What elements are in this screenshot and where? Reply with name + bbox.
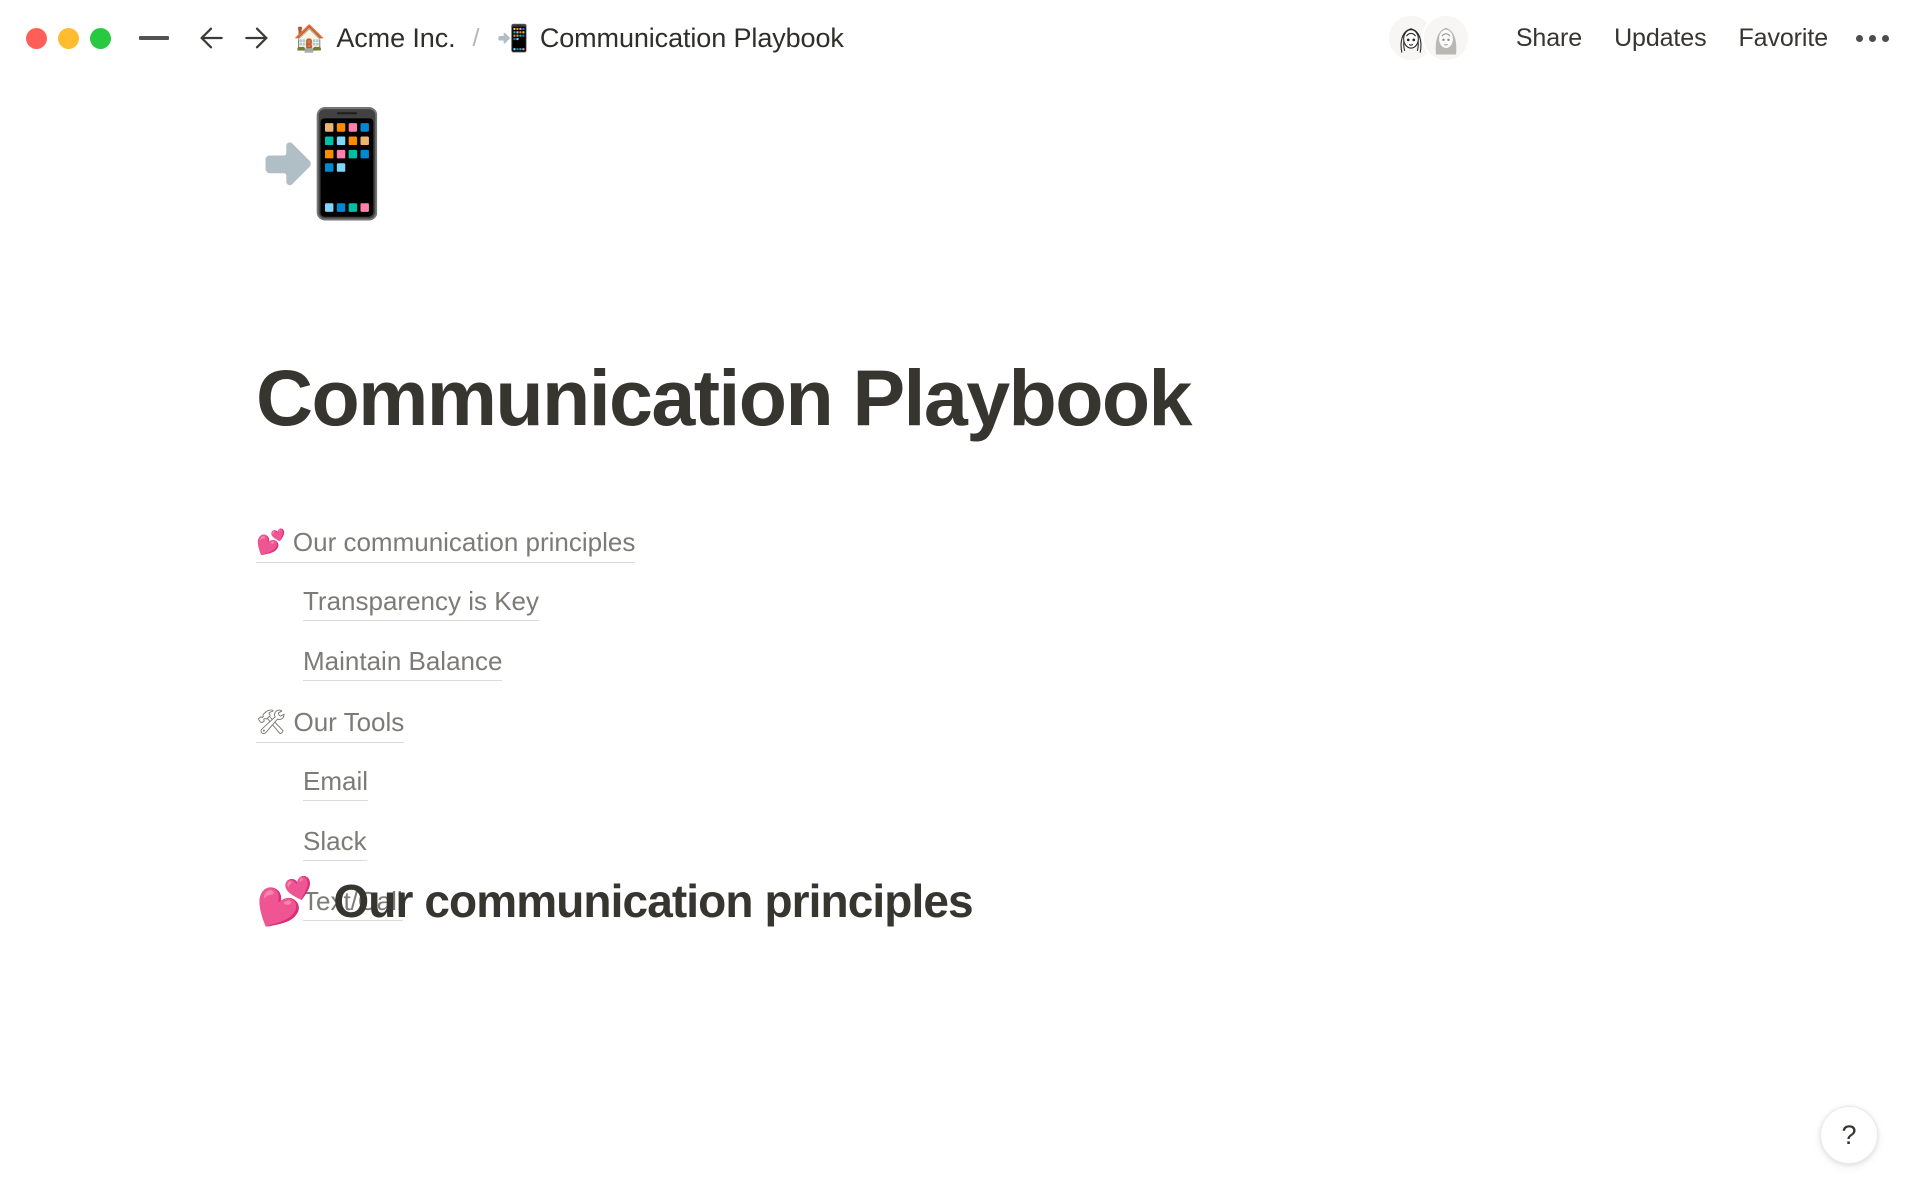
toc-label: Our Tools — [293, 705, 404, 740]
close-window-button[interactable] — [26, 28, 47, 49]
toc-link-our-communication-principles[interactable]: 💕 Our communication principles — [256, 525, 635, 562]
help-button[interactable]: ? — [1820, 1106, 1878, 1164]
toc-label: Maintain Balance — [303, 644, 502, 679]
avatar-user-2[interactable] — [1422, 14, 1470, 62]
arrow-left-icon[interactable] — [193, 20, 229, 56]
two-hearts-icon: 💕 — [256, 531, 286, 555]
toc-link-our-tools[interactable]: 🛠 Our Tools — [256, 705, 404, 742]
toc-row: Maintain Balance — [256, 636, 1156, 696]
breadcrumb-page-label: Communication Playbook — [540, 23, 844, 54]
toc-row: Transparency is Key — [256, 576, 1156, 636]
maximize-window-button[interactable] — [90, 28, 111, 49]
page-title[interactable]: Communication Playbook — [256, 358, 1191, 437]
toc-row: Email — [256, 756, 1156, 816]
toc-row: Slack — [256, 816, 1156, 876]
two-hearts-icon: 💕 — [256, 878, 312, 924]
section-heading-label: Our communication principles — [333, 876, 972, 927]
share-button[interactable]: Share — [1500, 17, 1598, 60]
top-bar: 🏠 Acme Inc. / 📲 Communication Playbook — [0, 0, 1920, 76]
toc-label: Transparency is Key — [303, 584, 539, 619]
toc-label: Email — [303, 764, 368, 799]
hamburger-menu-icon[interactable] — [137, 21, 171, 55]
toc-link-slack[interactable]: Slack — [303, 824, 367, 861]
table-of-contents: 💕 Our communication principles Transpare… — [256, 516, 1156, 936]
ellipsis-icon[interactable] — [1850, 20, 1894, 56]
breadcrumb-item-workspace[interactable]: 🏠 Acme Inc. — [293, 23, 456, 54]
traffic-lights — [26, 28, 111, 49]
toc-link-transparency-is-key[interactable]: Transparency is Key — [303, 584, 539, 621]
section-heading-our-communication-principles[interactable]: 💕 Our communication principles — [256, 876, 973, 927]
top-bar-actions: Share Updates Favorite — [1387, 14, 1898, 62]
toc-label: Slack — [303, 824, 367, 859]
toc-link-email[interactable]: Email — [303, 764, 368, 801]
breadcrumb-separator: / — [473, 24, 480, 53]
mobile-phone-with-arrow-icon[interactable]: 📲 — [258, 112, 386, 215]
minimize-window-button[interactable] — [58, 28, 79, 49]
toc-link-maintain-balance[interactable]: Maintain Balance — [303, 644, 502, 681]
toc-row: 💕 Our communication principles — [256, 516, 1156, 576]
breadcrumb-item-page[interactable]: 📲 Communication Playbook — [496, 23, 843, 54]
updates-button[interactable]: Updates — [1598, 17, 1722, 60]
app-window: 🏠 Acme Inc. / 📲 Communication Playbook — [0, 0, 1920, 1200]
favorite-button[interactable]: Favorite — [1722, 17, 1844, 60]
mobile-phone-with-arrow-icon: 📲 — [496, 25, 528, 51]
breadcrumb-workspace-label: Acme Inc. — [336, 23, 455, 54]
hamburger-bars — [139, 36, 169, 39]
collaborator-avatars[interactable] — [1387, 14, 1470, 62]
page-content: 📲 Communication Playbook 💕 Our communica… — [0, 76, 1920, 1200]
house-icon: 🏠 — [293, 25, 325, 51]
arrow-right-icon[interactable] — [239, 20, 275, 56]
toc-row: 🛠 Our Tools — [256, 696, 1156, 756]
hammer-and-wrench-icon: 🛠 — [256, 711, 286, 735]
toc-label: Our communication principles — [293, 525, 635, 560]
